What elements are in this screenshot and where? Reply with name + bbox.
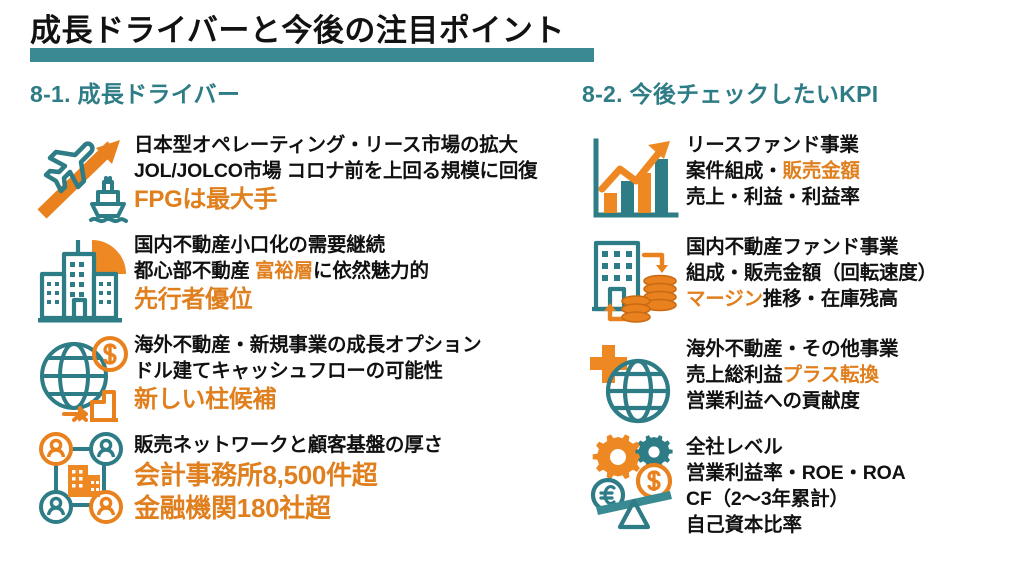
item-line-1: 全社レベル [686,435,1024,461]
item-line-2-part-a: 売上総利益 [686,364,783,386]
item-line-2: ドル建てキャッシュフローの可能性 [134,359,582,385]
item-line-3: 営業利益への貢献度 [686,389,1024,415]
globe-dollar-building-icon [30,331,134,427]
item-line-1: 販売ネットワークと顧客基盤の厚さ [134,433,582,459]
item-line-1: リースファンド事業 [686,133,1024,159]
slide-title-block: 成長ドライバーと今後の注目ポイント [30,14,565,47]
item-line-1: 日本型オペレーティング・リース市場の拡大 [134,133,582,159]
left-items-list: 日本型オペレーティング・リース市場の拡大 JOL/JOLCO市場 コロナ前を上回… [30,131,582,527]
item-line-2: 営業利益率・ROE・ROA [686,461,1024,487]
left-column-heading: 8-1. 成長ドライバー [30,82,582,107]
right-items-list: リースファンド事業 案件組成・販売金額 売上・利益・利益率 [582,131,1024,538]
item-line-2: 都心部不動産 富裕層に依然魅力的 [134,259,582,285]
item-line-3-part-b: 推移・在庫残高 [763,288,898,310]
item-line-2-part-b: プラス転換 [783,364,879,386]
item-line-3-part-a: マージン [686,288,763,310]
item-line-4: 自己資本比率 [686,513,1024,539]
bar-chart-growth-icon [582,131,686,227]
item-line-1: 海外不動産・その他事業 [686,337,1024,363]
item-line-2: 組成・販売金額（回転速度） [686,261,1024,287]
building-coins-cycle-icon [582,233,686,329]
list-item: 海外不動産・新規事業の成長オプション ドル建てキャッシュフローの可能性 新しい柱… [30,331,582,427]
list-item-text: 海外不動産・新規事業の成長オプション ドル建てキャッシュフローの可能性 新しい柱… [134,331,582,415]
item-line-2: 案件組成・販売金額 [686,159,1024,185]
page-title: 成長ドライバーと今後の注目ポイント [30,14,565,47]
item-line-3: 売上・利益・利益率 [686,185,1024,211]
item-line-3: マージン推移・在庫残高 [686,287,1024,313]
item-line-2: JOL/JOLCO市場 コロナ前を上回る規模に回復 [134,159,582,185]
plus-globe-icon [582,335,686,431]
item-line-2-part-a: 都心部不動産 [134,260,255,282]
title-underline-bar [30,48,594,62]
slide-root: 成長ドライバーと今後の注目ポイント 8-1. 成長ドライバー [0,0,1024,572]
list-item-text: 国内不動産ファンド事業 組成・販売金額（回転速度） マージン推移・在庫残高 [686,233,1024,312]
list-item: リースファンド事業 案件組成・販売金額 売上・利益・利益率 [582,131,1024,227]
item-line-2-part-b: 販売金額 [783,160,860,182]
item-highlight: 新しい柱候補 [134,385,582,415]
item-line-1: 国内不動産小口化の需要継続 [134,233,582,259]
item-highlight-2: 金融機関180社超 [134,492,582,525]
list-item-text: 国内不動産小口化の需要継続 都心部不動産 富裕層に依然魅力的 先行者優位 [134,231,582,315]
list-item-text: 全社レベル 営業利益率・ROE・ROA CF（2〜3年累計） 自己資本比率 [686,433,1024,538]
list-item: 国内不動産小口化の需要継続 都心部不動産 富裕層に依然魅力的 先行者優位 [30,231,582,327]
item-line-3: CF（2〜3年累計） [686,487,1024,513]
list-item-text: 海外不動産・その他事業 売上総利益プラス転換 営業利益への貢献度 [686,335,1024,414]
item-line-1: 国内不動産ファンド事業 [686,235,1024,261]
plane-ship-growth-arrow-icon [30,131,134,227]
list-item-text: 日本型オペレーティング・リース市場の拡大 JOL/JOLCO市場 コロナ前を上回… [134,131,582,215]
item-line-2-part-c: に依然魅力的 [313,260,429,282]
item-line-1: 海外不動産・新規事業の成長オプション [134,333,582,359]
list-item-text: リースファンド事業 案件組成・販売金額 売上・利益・利益率 [686,131,1024,210]
list-item: 日本型オペレーティング・リース市場の拡大 JOL/JOLCO市場 コロナ前を上回… [30,131,582,227]
list-item: 販売ネットワークと顧客基盤の厚さ 会計事務所8,500件超 金融機関180社超 [30,431,582,527]
list-item: 全社レベル 営業利益率・ROE・ROA CF（2〜3年累計） 自己資本比率 [582,433,1024,538]
item-line-2-part-a: 案件組成・ [686,160,783,182]
network-people-building-icon [30,431,134,527]
gears-balance-scale-icon [582,433,686,529]
item-line-2: 売上総利益プラス転換 [686,363,1024,389]
list-item-text: 販売ネットワークと顧客基盤の厚さ 会計事務所8,500件超 金融機関180社超 [134,431,582,524]
item-highlight: 先行者優位 [134,285,582,315]
left-column: 8-1. 成長ドライバー [30,82,582,527]
item-highlight: FPGは最大手 [134,185,582,215]
right-column: 8-2. 今後チェックしたいKPI リースファンド事業 [582,82,1024,538]
item-highlight: 会計事務所8,500件超 [134,459,582,492]
list-item: 国内不動産ファンド事業 組成・販売金額（回転速度） マージン推移・在庫残高 [582,233,1024,329]
city-buildings-icon [30,231,134,327]
right-column-heading: 8-2. 今後チェックしたいKPI [582,82,1024,107]
item-line-2-part-b: 富裕層 [255,260,313,282]
list-item: 海外不動産・その他事業 売上総利益プラス転換 営業利益への貢献度 [582,335,1024,431]
